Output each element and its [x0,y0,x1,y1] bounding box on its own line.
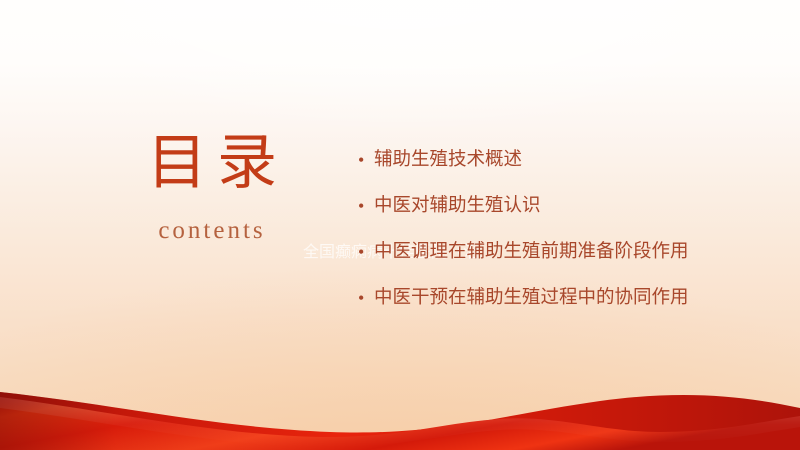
list-item[interactable]: • 中医调理在辅助生殖前期准备阶段作用 [358,234,708,270]
bullet-icon: • [358,280,364,316]
bullet-icon: • [358,188,364,224]
wave-left-shadow-fold [0,392,330,450]
title-block: 目录 contents [96,132,328,245]
bullet-icon: • [358,142,364,178]
red-ribbon-wave-decoration [0,375,800,450]
bullet-icon: • [358,234,364,270]
list-item-label: 中医干预在辅助生殖过程中的协同作用 [374,288,689,308]
list-item[interactable]: • 辅助生殖技术概述 [358,142,708,178]
list-item[interactable]: • 中医对辅助生殖认识 [358,188,708,224]
list-item-label: 辅助生殖技术概述 [374,150,522,170]
page-subtitle: contents [96,217,328,245]
page-title: 目录 [96,132,328,195]
list-item-label: 中医调理在辅助生殖前期准备阶段作用 [374,242,689,262]
presentation-slide: 目录 contents 全国癫痫病十佳医院（治 • 辅助生殖技术概述 • 中医对… [0,0,800,450]
list-item[interactable]: • 中医干预在辅助生殖过程中的协同作用 [358,280,708,316]
table-of-contents-list: • 辅助生殖技术概述 • 中医对辅助生殖认识 • 中医调理在辅助生殖前期准备阶段… [358,142,708,326]
list-item-label: 中医对辅助生殖认识 [374,196,541,216]
